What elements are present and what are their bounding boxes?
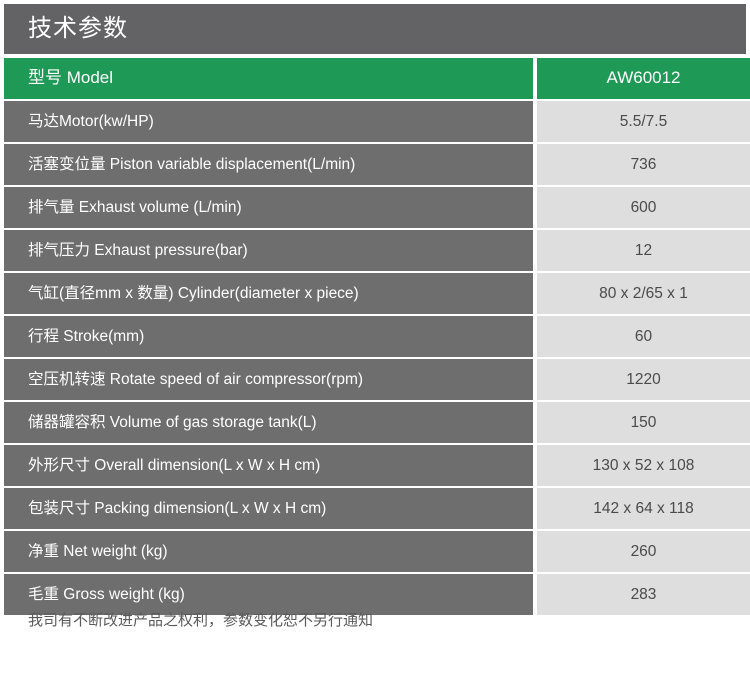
spec-value-cell: 60: [537, 316, 750, 357]
spec-value-cell: 80 x 2/65 x 1: [537, 273, 750, 314]
spec-value-cell: 736: [537, 144, 750, 185]
spec-value-cell: 150: [537, 402, 750, 443]
specifications-table: 型号 Model AW60012 马达Motor(kw/HP)5.5/7.5活塞…: [4, 58, 750, 615]
spec-value-cell: 130 x 52 x 108: [537, 445, 750, 486]
table-row: 排气压力 Exhaust pressure(bar)12: [4, 230, 750, 271]
model-value-cell: AW60012: [537, 58, 750, 99]
spec-value-cell: 600: [537, 187, 750, 228]
spec-value-cell: 142 x 64 x 118: [537, 488, 750, 529]
spec-label-cell: 毛重 Gross weight (kg): [4, 574, 533, 615]
table-row: 行程 Stroke(mm)60: [4, 316, 750, 357]
table-row: 外形尺寸 Overall dimension(L x W x H cm)130 …: [4, 445, 750, 486]
table-row: 气缸(直径mm x 数量) Cylinder(diameter x piece)…: [4, 273, 750, 314]
table-row: 净重 Net weight (kg)260: [4, 531, 750, 572]
table-body: 马达Motor(kw/HP)5.5/7.5活塞变位量 Piston variab…: [4, 101, 750, 615]
spec-label-cell: 空压机转速 Rotate speed of air compressor(rpm…: [4, 359, 533, 400]
spec-value-cell: 12: [537, 230, 750, 271]
table-row: 储器罐容积 Volume of gas storage tank(L)150: [4, 402, 750, 443]
disclaimer-note: 我司有不断改进产品之权利，参数变化恕不另行通知: [4, 612, 746, 630]
spec-value-cell: 1220: [537, 359, 750, 400]
model-label-cell: 型号 Model: [4, 58, 533, 99]
spec-value-cell: 283: [537, 574, 750, 615]
spec-label-cell: 行程 Stroke(mm): [4, 316, 533, 357]
table-row: 排气量 Exhaust volume (L/min)600: [4, 187, 750, 228]
section-title-bar: 技术参数: [4, 4, 746, 54]
spec-label-cell: 马达Motor(kw/HP): [4, 101, 533, 142]
spec-label-cell: 排气量 Exhaust volume (L/min): [4, 187, 533, 228]
table-row: 毛重 Gross weight (kg)283: [4, 574, 750, 615]
spec-label-cell: 储器罐容积 Volume of gas storage tank(L): [4, 402, 533, 443]
spec-label-cell: 活塞变位量 Piston variable displacement(L/min…: [4, 144, 533, 185]
table-row: 包装尺寸 Packing dimension(L x W x H cm)142 …: [4, 488, 750, 529]
spec-label-cell: 气缸(直径mm x 数量) Cylinder(diameter x piece): [4, 273, 533, 314]
spec-sheet-page: 技术参数 型号 Model AW60012 马达Motor(kw/HP)5.5/…: [0, 0, 750, 674]
spec-value-cell: 260: [537, 531, 750, 572]
spec-label-cell: 净重 Net weight (kg): [4, 531, 533, 572]
spec-value-cell: 5.5/7.5: [537, 101, 750, 142]
table-row: 马达Motor(kw/HP)5.5/7.5: [4, 101, 750, 142]
table-row: 活塞变位量 Piston variable displacement(L/min…: [4, 144, 750, 185]
spec-label-cell: 外形尺寸 Overall dimension(L x W x H cm): [4, 445, 533, 486]
table-header-row: 型号 Model AW60012: [4, 58, 750, 99]
table-row: 空压机转速 Rotate speed of air compressor(rpm…: [4, 359, 750, 400]
spec-label-cell: 排气压力 Exhaust pressure(bar): [4, 230, 533, 271]
spec-label-cell: 包装尺寸 Packing dimension(L x W x H cm): [4, 488, 533, 529]
page-title: 技术参数: [28, 17, 128, 41]
